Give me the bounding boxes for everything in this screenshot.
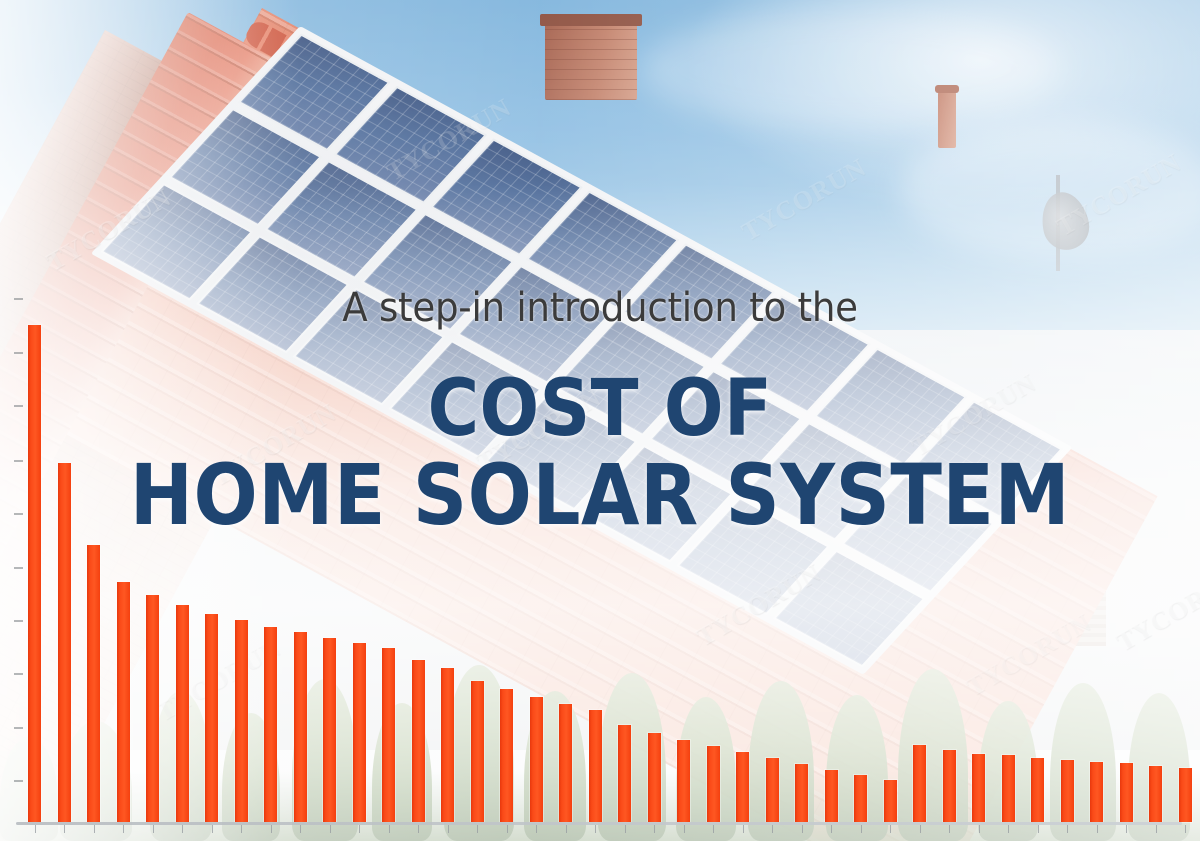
title-line-1: COST OF [60, 372, 1140, 447]
conifer-tree [372, 703, 432, 841]
conifer-tree [60, 721, 132, 841]
banner-subtitle: A step-in introduction to the [42, 285, 1158, 331]
conifer-tree [1050, 683, 1116, 841]
chimney-small [938, 92, 956, 148]
conifer-tree [898, 669, 968, 841]
conifer-tree [978, 701, 1038, 841]
roof-assembly [0, 0, 1200, 700]
conifer-hedge-row [0, 611, 1200, 841]
title-line-2: HOME SOLAR SYSTEM [60, 455, 1140, 536]
conifer-tree [444, 665, 514, 841]
conifer-tree [150, 691, 212, 841]
conifer-tree [1128, 693, 1190, 841]
conifer-tree [524, 691, 586, 841]
satellite-dish-icon [1036, 188, 1093, 254]
banner-title: COST OF HOME SOLAR SYSTEM [0, 372, 1200, 536]
conifer-tree [676, 697, 736, 841]
conifer-tree [0, 737, 58, 841]
conifer-tree [748, 681, 814, 841]
conifer-tree [826, 695, 888, 841]
conifer-tree [292, 679, 358, 841]
chimney [545, 22, 637, 100]
conifer-tree [222, 713, 280, 841]
solar-cost-banner: TYCORUNTYCORUNTYCORUNTYCORUNTYCORUNTYCOR… [0, 0, 1200, 841]
conifer-tree [598, 673, 666, 841]
